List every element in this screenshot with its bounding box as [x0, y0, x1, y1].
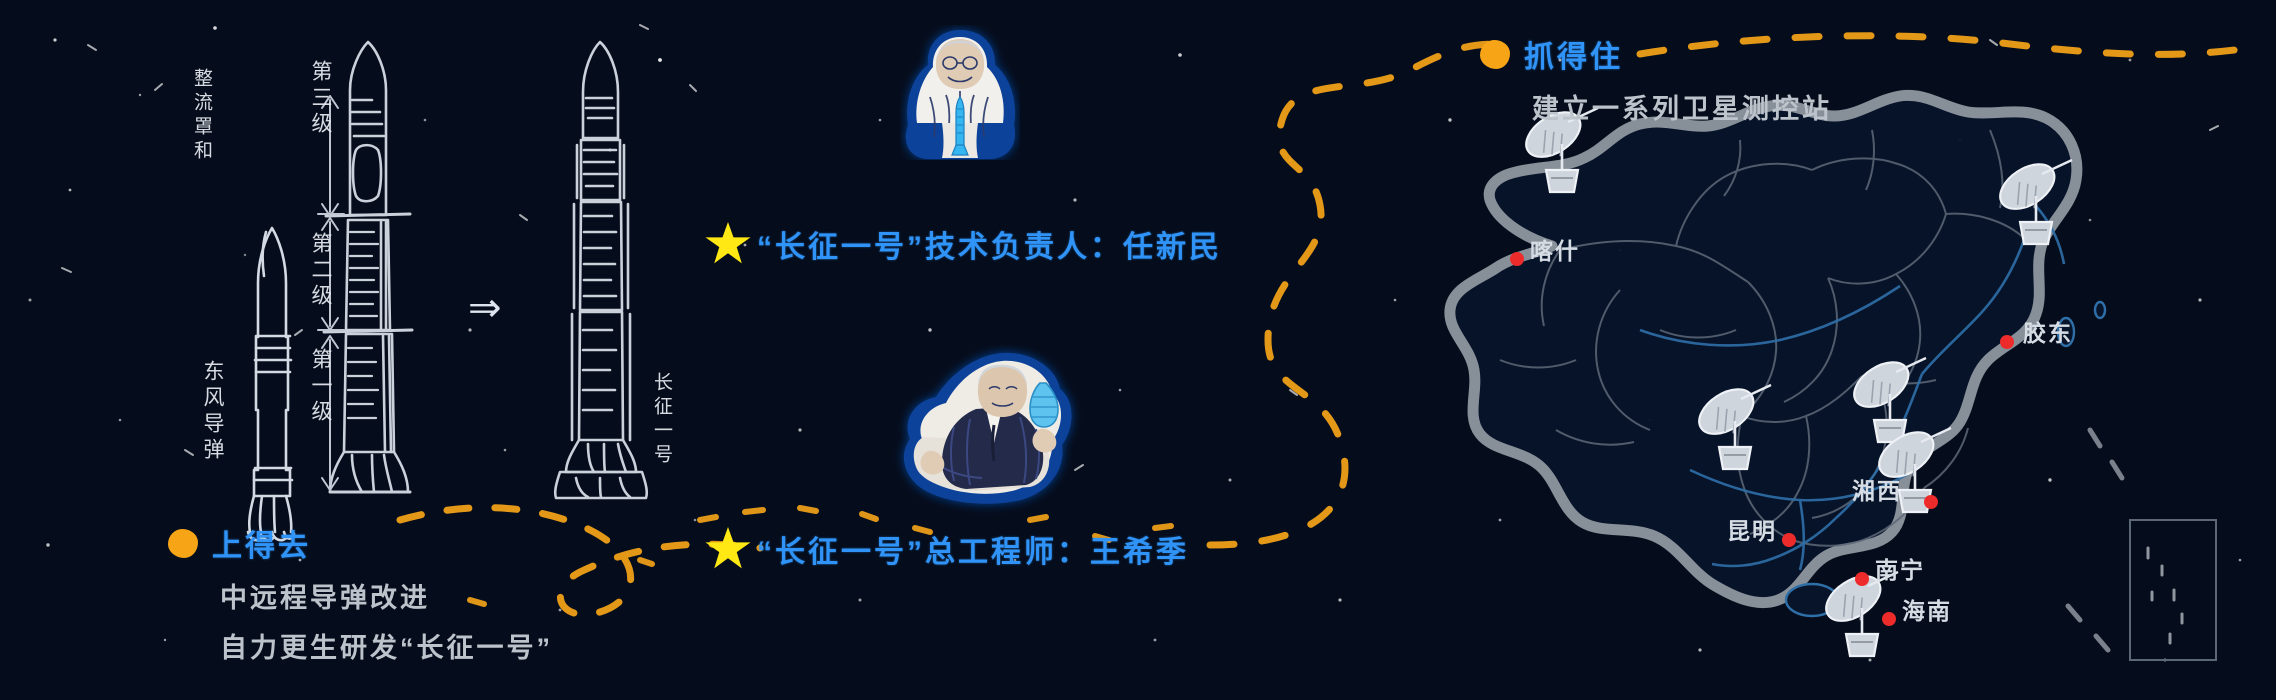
station-dot-icon: [1924, 495, 1938, 509]
station-label: 南宁: [1875, 551, 1925, 585]
callout-right-line-1: 建立一系列卫星测控站: [1532, 87, 1832, 126]
station-label: 昆明: [1727, 512, 1777, 546]
station-dot-icon: [1782, 533, 1796, 547]
map-station-layer: 喀什胶东湘西昆明南宁海南: [0, 0, 2276, 700]
station-dot-icon: [2000, 335, 2014, 349]
station-dot-icon: [1855, 572, 1869, 586]
infographic-canvas: 整流罩和 第三级 第二级 第一级 东风导弹 长征一号 ⇒ 上得去 中远程导弹改进…: [0, 0, 2276, 700]
callout-right-body: 建立一系列卫星测控站: [1532, 76, 1832, 126]
orange-dot-icon: [1480, 40, 1510, 69]
station-label: 湘西: [1852, 472, 1902, 506]
callout-right-title: 抓得住: [1524, 32, 1623, 76]
station-dot-icon: [1882, 612, 1896, 626]
station-label: 喀什: [1530, 232, 1580, 266]
station-label: 胶东: [2023, 314, 2073, 348]
station-label: 海南: [1902, 592, 1952, 626]
station-dot-icon: [1510, 252, 1524, 266]
